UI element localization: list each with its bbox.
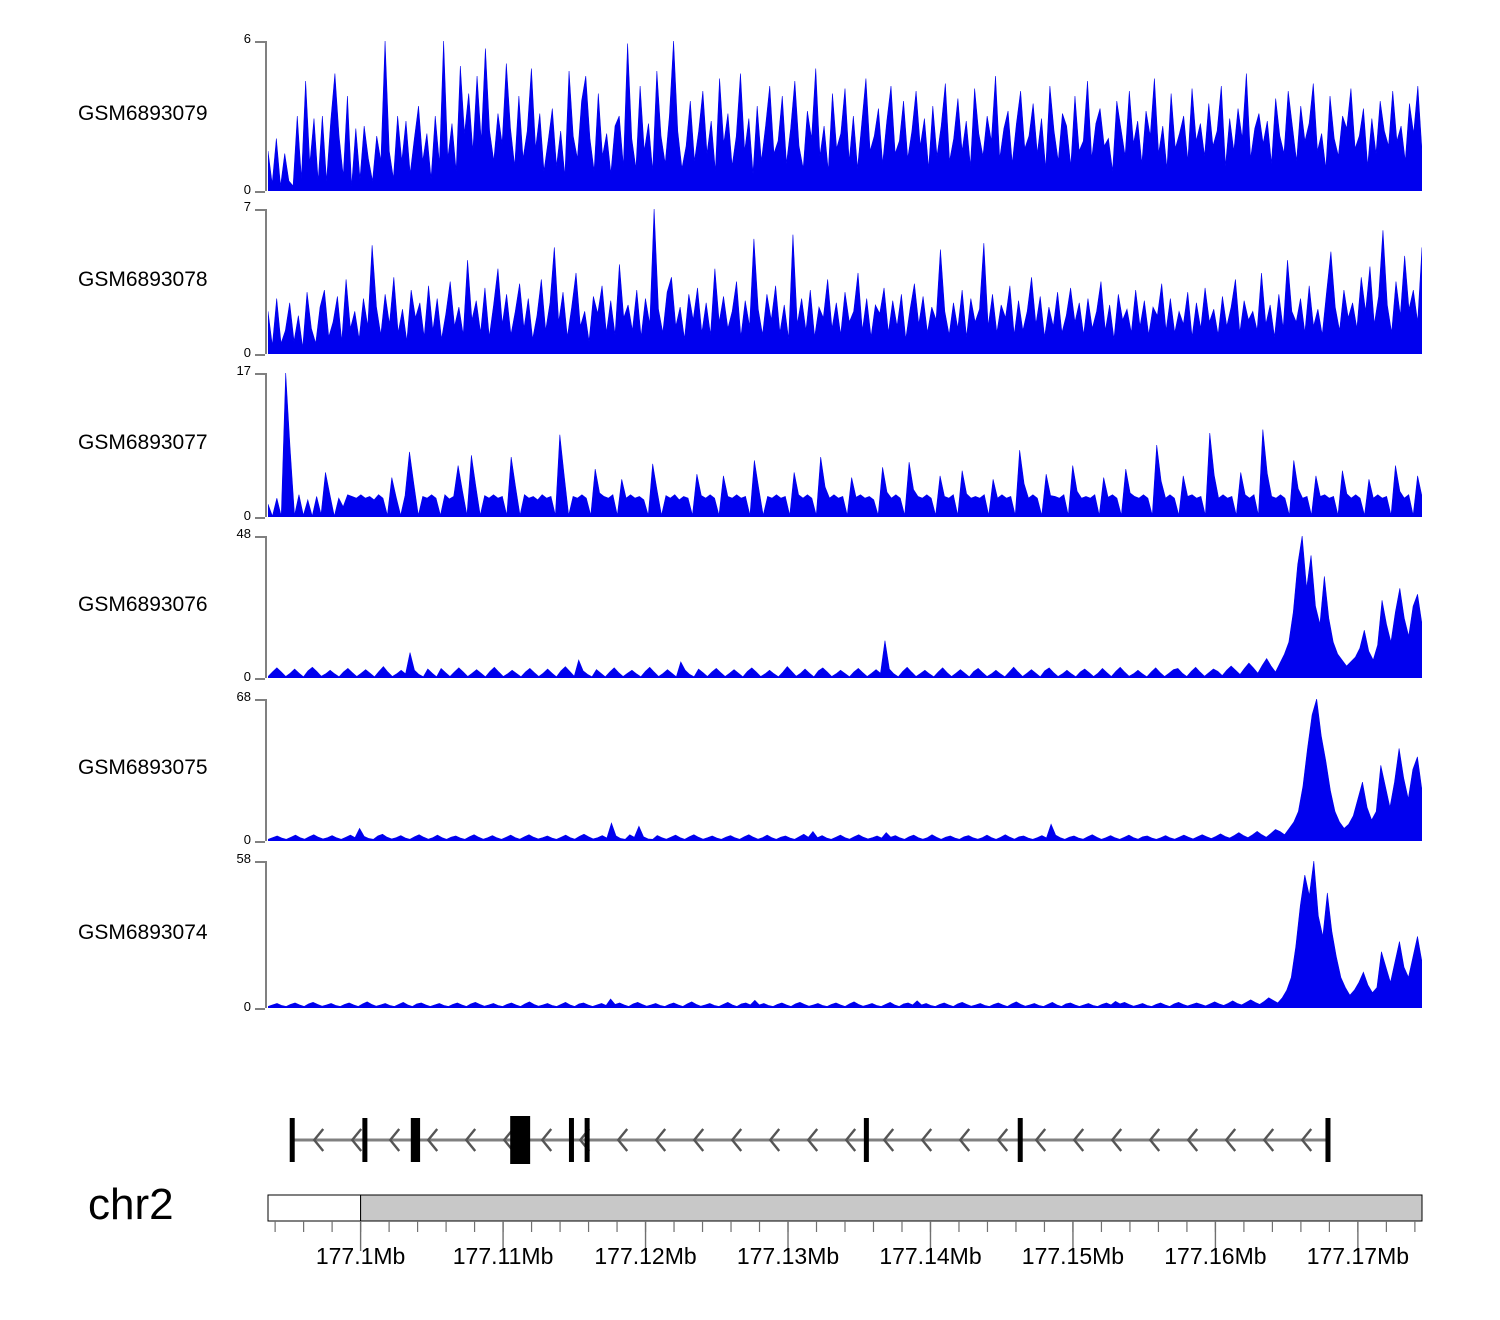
track-ymin-label: 0 (195, 832, 251, 847)
track-axis-tick-min (255, 841, 265, 843)
track-ymax-label: 48 (195, 526, 251, 541)
track-axis-spine (265, 699, 267, 841)
genome-browser-figure: 60GSM689307970GSM6893078170GSM6893077480… (0, 0, 1500, 1320)
track-label-GSM6893074: GSM6893074 (78, 921, 208, 945)
track-ymin-label: 0 (195, 182, 251, 197)
track-axis-tick-max (255, 699, 265, 701)
gene-exon-bar (415, 1118, 420, 1162)
track-axis-tick-max (255, 536, 265, 538)
track-signal-area (268, 536, 1422, 678)
track-axis-spine (265, 41, 267, 191)
axis-tick-label: 177.17Mb (1278, 1243, 1438, 1270)
gene-coding-block (510, 1116, 530, 1164)
axis-tick-label: 177.1Mb (281, 1243, 441, 1270)
gene-model-svg (0, 1108, 1500, 1172)
ideogram-unshaded-region (268, 1195, 361, 1221)
gene-exon-bar (1325, 1118, 1330, 1162)
track-axis-tick-min (255, 1008, 265, 1010)
axis-tick-label: 177.16Mb (1135, 1243, 1295, 1270)
track-signal-area (268, 699, 1422, 841)
track-ymin-label: 0 (195, 999, 251, 1014)
track-axis-tick-min (255, 678, 265, 680)
axis-tick-label: 177.15Mb (993, 1243, 1153, 1270)
track-label-GSM6893077: GSM6893077 (78, 431, 208, 455)
track-axis-spine (265, 209, 267, 354)
track-label-GSM6893076: GSM6893076 (78, 593, 208, 617)
track-axis-tick-min (255, 191, 265, 193)
track-ymax-label: 17 (195, 363, 251, 378)
track-axis-tick-max (255, 373, 265, 375)
track-label-GSM6893079: GSM6893079 (78, 102, 208, 126)
ideogram-shaded-region (361, 1195, 1422, 1221)
track-axis-tick-min (255, 517, 265, 519)
track-signal-area (268, 209, 1422, 354)
track-ymax-label: 58 (195, 851, 251, 866)
axis-tick-label: 177.11Mb (423, 1243, 583, 1270)
track-axis-spine (265, 536, 267, 678)
track-ymin-label: 0 (195, 669, 251, 684)
track-ymax-label: 7 (195, 199, 251, 214)
gene-exon-bar (585, 1118, 590, 1162)
track-ymax-label: 68 (195, 689, 251, 704)
track-ymin-label: 0 (195, 508, 251, 523)
track-signal-area (268, 861, 1422, 1008)
track-axis-tick-max (255, 41, 265, 43)
gene-exon-bar (864, 1118, 869, 1162)
gene-exon-bar (362, 1118, 367, 1162)
track-ymax-label: 6 (195, 31, 251, 46)
track-axis-spine (265, 861, 267, 1008)
track-signal-area (268, 373, 1422, 517)
track-axis-tick-max (255, 209, 265, 211)
track-ymin-label: 0 (195, 345, 251, 360)
track-label-GSM6893075: GSM6893075 (78, 756, 208, 780)
gene-model-track (0, 1108, 1500, 1172)
gene-exon-bar (1018, 1118, 1023, 1162)
axis-tick-label: 177.12Mb (566, 1243, 726, 1270)
axis-tick-label: 177.14Mb (850, 1243, 1010, 1270)
gene-exon-bar (411, 1118, 416, 1162)
gene-exon-bar (290, 1118, 295, 1162)
track-label-GSM6893078: GSM6893078 (78, 268, 208, 292)
axis-tick-label: 177.13Mb (708, 1243, 868, 1270)
track-axis-spine (265, 373, 267, 517)
track-axis-tick-min (255, 354, 265, 356)
track-axis-tick-max (255, 861, 265, 863)
gene-exon-bar (569, 1118, 574, 1162)
track-signal-area (268, 41, 1422, 191)
